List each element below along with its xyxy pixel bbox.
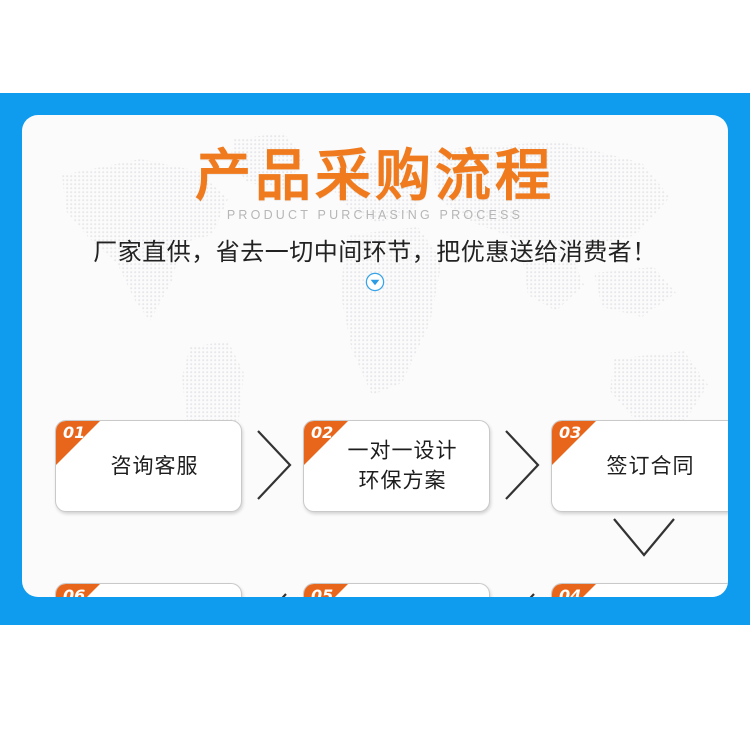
chevron-left-icon-04-to-05 <box>496 590 538 597</box>
step-label-02-line-2: 环保方案 <box>316 466 489 496</box>
step-number-05: 05 <box>311 586 333 597</box>
chevron-left-icon-05-to-06 <box>248 590 290 597</box>
chevron-down-circle-icon <box>365 272 385 292</box>
step-number-01: 01 <box>63 423 85 442</box>
poster-page: 产品采购流程 PRODUCT PURCHASING PROCESS 厂家直供，省… <box>0 0 750 750</box>
flow-step-05[interactable]: 05 发货安装 <box>303 583 490 597</box>
flow-step-01[interactable]: 01 咨询客服 <box>55 420 242 512</box>
step-number-04: 04 <box>559 586 581 597</box>
page-subtitle-english: PRODUCT PURCHASING PROCESS <box>22 208 728 222</box>
flow-step-06[interactable]: 06 售后服务 <box>55 583 242 597</box>
flow-step-04[interactable]: 04 车间生产 <box>551 583 728 597</box>
chevron-right-icon-01-to-02 <box>254 427 296 503</box>
chevron-down-icon-03-to-04 <box>610 515 678 561</box>
page-title: 产品采购流程 <box>22 131 728 212</box>
step-number-06: 06 <box>63 586 85 597</box>
content-panel: 产品采购流程 PRODUCT PURCHASING PROCESS 厂家直供，省… <box>22 115 728 597</box>
page-tagline: 厂家直供，省去一切中间环节，把优惠送给消费者！ <box>22 232 728 267</box>
step-label-03: 签订合同 <box>552 451 728 481</box>
step-label-02-line-1: 一对一设计 <box>316 436 489 466</box>
flow-step-03[interactable]: 03 签订合同 <box>551 420 728 512</box>
chevron-right-icon-02-to-03 <box>502 427 544 503</box>
flow-step-02[interactable]: 02 一对一设计 环保方案 <box>303 420 490 512</box>
step-label-02: 一对一设计 环保方案 <box>304 436 489 497</box>
step-number-03: 03 <box>559 423 581 442</box>
step-label-01: 咨询客服 <box>56 451 241 481</box>
